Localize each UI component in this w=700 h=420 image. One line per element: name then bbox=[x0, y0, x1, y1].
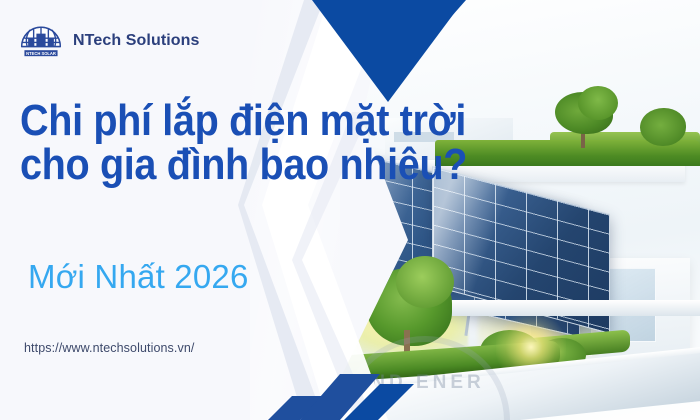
globe-grid-solar-icon: NTECH SOLAR bbox=[18, 18, 64, 64]
brand-name: NTech Solutions bbox=[73, 32, 200, 50]
seam-soft-glow bbox=[250, 0, 340, 420]
brand-logo[interactable]: NTECH SOLAR NTech Solutions bbox=[18, 18, 200, 64]
banner-root: ND ENER bbox=[0, 0, 700, 420]
roof-tree-canopy-top bbox=[578, 86, 618, 120]
headline-line-2: cho gia đình bao nhiêu? bbox=[20, 143, 467, 187]
headline-line-1: Chi phí lắp điện mặt trời bbox=[20, 99, 467, 143]
logo-caption: NTECH SOLAR bbox=[26, 51, 56, 56]
garden-tree-canopy-top bbox=[396, 256, 454, 308]
page-title: Chi phí lắp điện mặt trời cho gia đình b… bbox=[20, 99, 467, 186]
subtitle: Mới Nhất 2026 bbox=[28, 258, 249, 296]
website-url[interactable]: https://www.ntechsolutions.vn/ bbox=[24, 341, 194, 355]
roof-tree-secondary bbox=[640, 108, 686, 146]
